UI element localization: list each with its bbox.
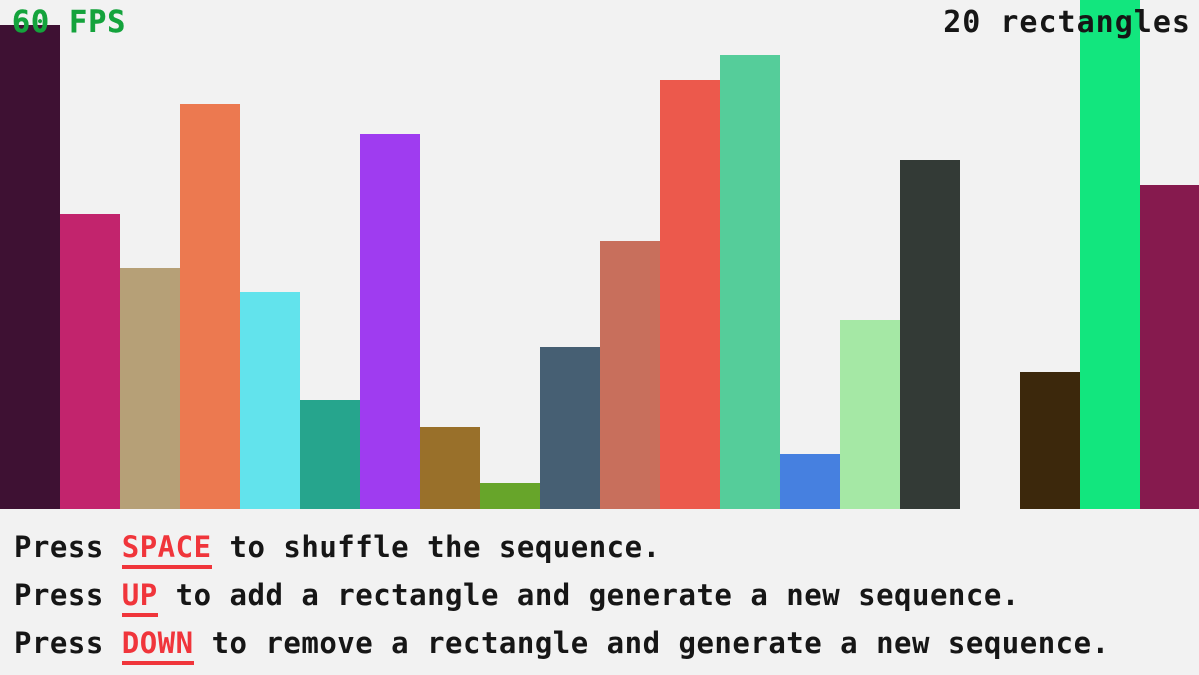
instructions-panel: Press SPACE to shuffle the sequence.Pres… (0, 509, 1199, 675)
instruction-suffix: to shuffle the sequence. (212, 530, 661, 564)
app-canvas: 60 FPS 20 rectangles Press SPACE to shuf… (0, 0, 1199, 675)
bar-rectangle (0, 25, 60, 509)
bar-rectangle (60, 214, 120, 509)
instruction-prefix: Press (14, 530, 122, 564)
bar-rectangle (900, 160, 960, 509)
fps-counter: 60 FPS (12, 6, 126, 40)
bar-rectangle (1020, 372, 1080, 509)
instruction-line-1: Press SPACE to shuffle the sequence. (14, 523, 1199, 571)
bar-rectangle (600, 241, 660, 509)
bar-chart (0, 0, 1199, 509)
bar-rectangle (720, 55, 780, 509)
bar-rectangle (540, 347, 600, 509)
key-badge-down[interactable]: DOWN (122, 626, 194, 665)
bar-rectangle (780, 454, 840, 509)
bar-rectangle (300, 400, 360, 509)
bar-rectangle (240, 292, 300, 509)
instruction-suffix: to add a rectangle and generate a new se… (158, 578, 1020, 612)
instruction-line-3: Press DOWN to remove a rectangle and gen… (14, 619, 1199, 667)
bar-rectangle (120, 268, 180, 509)
key-badge-up[interactable]: UP (122, 578, 158, 617)
bar-rectangle (840, 320, 900, 509)
key-badge-space[interactable]: SPACE (122, 530, 212, 569)
instruction-prefix: Press (14, 578, 122, 612)
bar-rectangle (420, 427, 480, 509)
bar-rectangle (180, 104, 240, 509)
bar-rectangle (360, 134, 420, 509)
instruction-suffix: to remove a rectangle and generate a new… (194, 626, 1110, 660)
bar-rectangle (1080, 0, 1140, 509)
instruction-prefix: Press (14, 626, 122, 660)
bar-rectangle (660, 80, 720, 509)
rectangle-count-label: 20 rectangles (943, 6, 1191, 40)
bar-rectangle (480, 483, 540, 509)
instruction-line-2: Press UP to add a rectangle and generate… (14, 571, 1199, 619)
bar-rectangle (1140, 185, 1199, 509)
